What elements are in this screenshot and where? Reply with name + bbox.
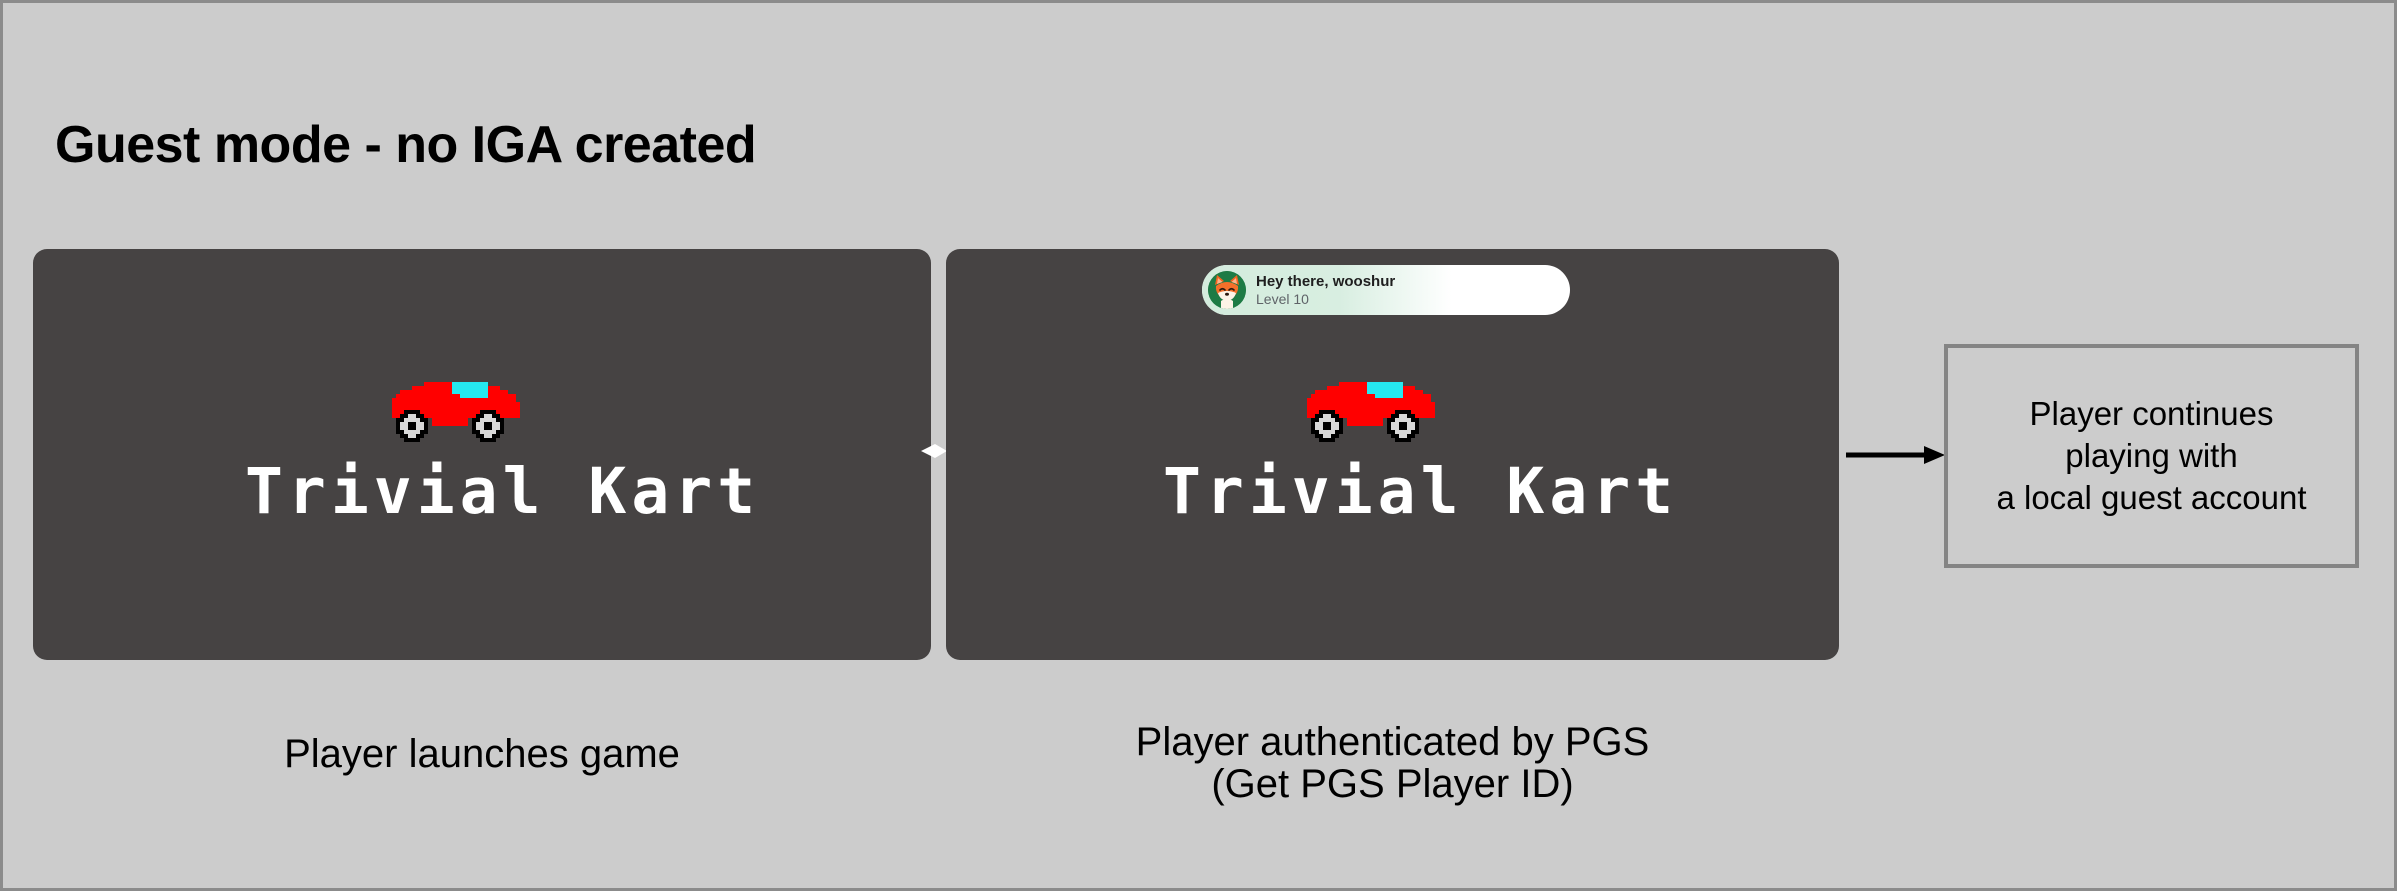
pgs-welcome-toast[interactable]: Hey there, wooshur Level 10 (1202, 265, 1570, 315)
caption-authenticated-line2: (Get PGS Player ID) (946, 763, 1839, 805)
toast-title: Hey there, wooshur (1256, 274, 1395, 290)
outcome-line-2: playing with (1996, 435, 2306, 477)
fox-avatar-icon (1208, 271, 1246, 309)
outcome-box: Player continues playing with a local gu… (1944, 344, 2359, 568)
outcome-line-3: a local guest account (1996, 477, 2306, 519)
diagram-canvas: Guest mode - no IGA created Trivial Kart (0, 0, 2397, 891)
page-title: Guest mode - no IGA created (55, 115, 756, 175)
outcome-arrow-icon (1846, 444, 1945, 466)
outcome-text: Player continues playing with a local gu… (1996, 393, 2306, 519)
pixel-car-icon (384, 374, 524, 442)
trivial-kart-logo: Trivial Kart (1163, 455, 1678, 528)
panel-gap-arrow-icon (921, 441, 947, 461)
caption-authenticated: Player authenticated by PGS (Get PGS Pla… (946, 721, 1839, 806)
outcome-line-1: Player continues (1996, 393, 2306, 435)
trivial-kart-logo: Trivial Kart (245, 455, 760, 528)
toast-text-block: Hey there, wooshur Level 10 (1256, 274, 1395, 306)
caption-launch: Player launches game (33, 733, 931, 775)
toast-subtitle: Level 10 (1256, 292, 1395, 307)
pixel-car-icon (1299, 374, 1439, 442)
caption-authenticated-line1: Player authenticated by PGS (946, 721, 1839, 763)
